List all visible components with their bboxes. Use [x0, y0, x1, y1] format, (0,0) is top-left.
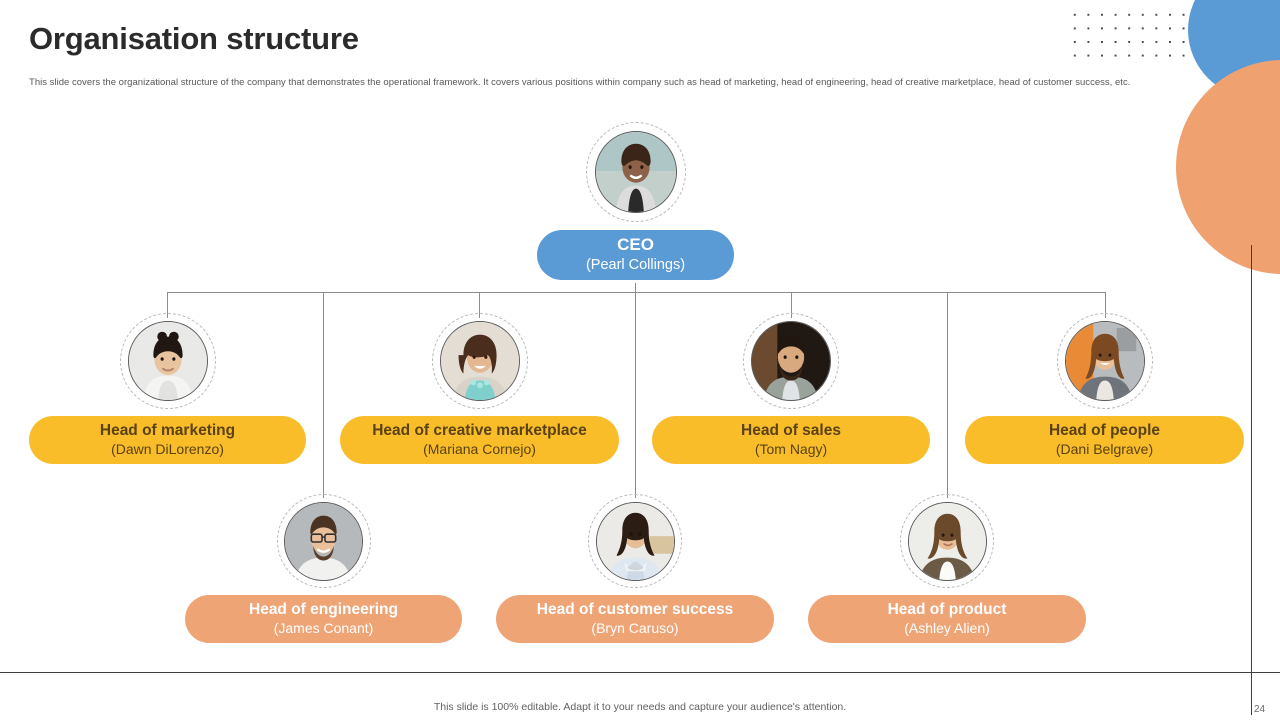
org-person-label: (Ashley Alien) — [904, 621, 990, 636]
avatar-wrap-creative — [432, 313, 528, 409]
page-number: 24 — [1254, 704, 1265, 715]
avatar-wrap-ceo — [586, 122, 686, 222]
org-node-head-of-customer-success[interactable]: Head of customer success (Bryn Caruso) — [496, 494, 774, 643]
footer-divider — [0, 672, 1280, 673]
avatar-ashley-alien — [908, 502, 987, 581]
org-node-head-of-marketing[interactable]: Head of marketing (Dawn DiLorenzo) — [29, 313, 306, 464]
avatar-dani-belgrave — [1065, 321, 1145, 401]
page-subtitle: This slide covers the organizational str… — [29, 76, 1189, 91]
org-pill-head-of-creative-marketplace[interactable]: Head of creative marketplace (Mariana Co… — [340, 416, 619, 464]
orange-circle-decoration — [1176, 60, 1280, 274]
org-node-ceo[interactable]: CEO (Pearl Collings) — [537, 122, 734, 280]
avatar-tom-nagy — [751, 321, 831, 401]
org-pill-head-of-product[interactable]: Head of product (Ashley Alien) — [808, 595, 1086, 643]
org-person-label: (Dawn DiLorenzo) — [111, 442, 224, 457]
org-pill-head-of-sales[interactable]: Head of sales (Tom Nagy) — [652, 416, 930, 464]
slide-canvas: Organisation structure This slide covers… — [0, 0, 1280, 720]
org-person-label: (Bryn Caruso) — [591, 621, 678, 636]
org-pill-head-of-engineering[interactable]: Head of engineering (James Conant) — [185, 595, 462, 643]
org-pill-head-of-people[interactable]: Head of people (Dani Belgrave) — [965, 416, 1244, 464]
connector-drop-customer-success — [635, 292, 636, 498]
org-person-label: (Tom Nagy) — [755, 442, 827, 457]
avatar-james-conant — [284, 502, 363, 581]
avatar-wrap-customer-success — [588, 494, 682, 588]
avatar-wrap-product — [900, 494, 994, 588]
avatar-dawn-dilorenzo — [128, 321, 208, 401]
org-node-head-of-creative-marketplace[interactable]: Head of creative marketplace (Mariana Co… — [340, 313, 619, 464]
org-role-label: Head of people — [1049, 423, 1160, 440]
org-person-label: (James Conant) — [274, 621, 374, 636]
org-pill-head-of-marketing[interactable]: Head of marketing (Dawn DiLorenzo) — [29, 416, 306, 464]
org-pill-head-of-customer-success[interactable]: Head of customer success (Bryn Caruso) — [496, 595, 774, 643]
org-role-label: Head of creative marketplace — [372, 423, 587, 440]
avatar-wrap-marketing — [120, 313, 216, 409]
avatar-wrap-engineering — [277, 494, 371, 588]
footer-note: This slide is 100% editable. Adapt it to… — [0, 701, 1280, 713]
avatar-wrap-sales — [743, 313, 839, 409]
org-role-label: Head of sales — [741, 423, 841, 440]
org-pill-ceo[interactable]: CEO (Pearl Collings) — [537, 230, 734, 280]
org-node-head-of-sales[interactable]: Head of sales (Tom Nagy) — [652, 313, 930, 464]
right-vertical-rule — [1251, 245, 1252, 715]
avatar-pearl-collings — [595, 131, 677, 213]
org-role-label: Head of marketing — [100, 423, 235, 440]
connector-drop-engineering — [323, 292, 324, 498]
org-person-label: (Dani Belgrave) — [1056, 442, 1153, 457]
connector-drop-product — [947, 292, 948, 498]
org-node-head-of-product[interactable]: Head of product (Ashley Alien) — [808, 494, 1086, 643]
connector-horizontal-bus — [167, 292, 1105, 293]
page-title: Organisation structure — [29, 22, 359, 56]
org-person-label: (Pearl Collings) — [586, 258, 685, 274]
org-role-label: Head of product — [888, 602, 1007, 619]
org-role-label: Head of customer success — [537, 602, 733, 619]
org-role-label: CEO — [617, 236, 654, 254]
org-person-label: (Mariana Cornejo) — [423, 442, 536, 457]
org-node-head-of-people[interactable]: Head of people (Dani Belgrave) — [965, 313, 1244, 464]
avatar-bryn-caruso — [596, 502, 675, 581]
org-role-label: Head of engineering — [249, 602, 398, 619]
avatar-mariana-cornejo — [440, 321, 520, 401]
org-node-head-of-engineering[interactable]: Head of engineering (James Conant) — [185, 494, 462, 643]
avatar-wrap-people — [1057, 313, 1153, 409]
